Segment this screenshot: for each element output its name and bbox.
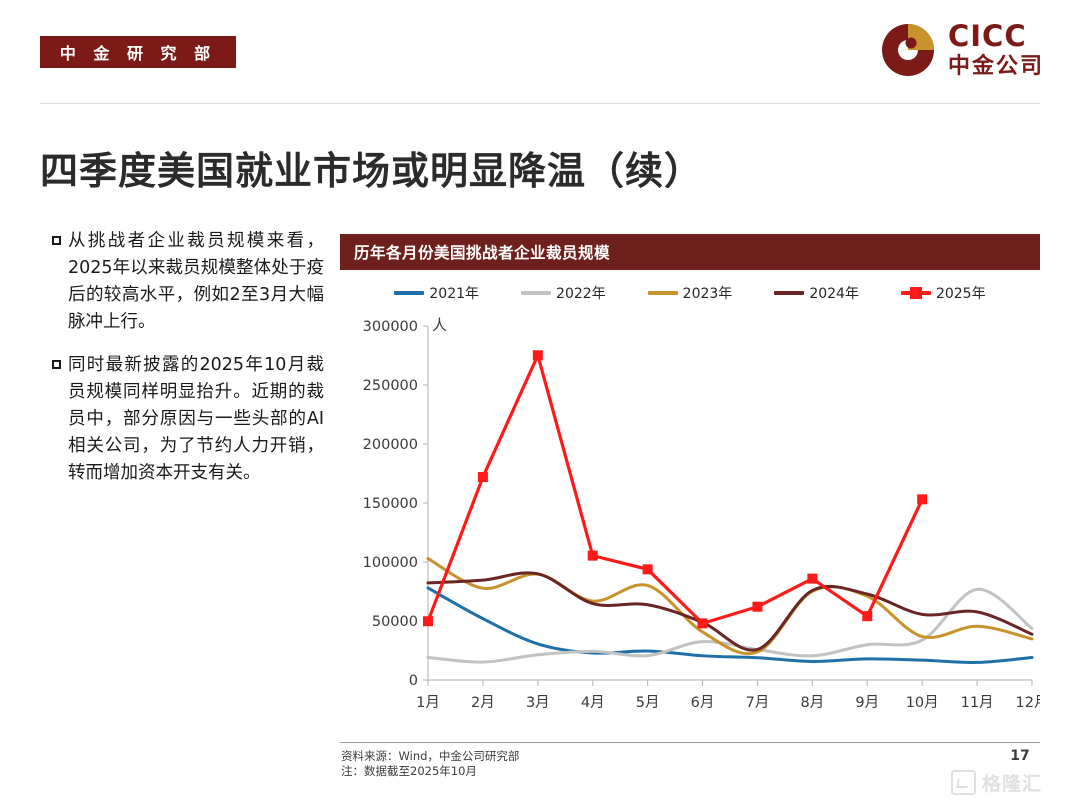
legend-item-2021年[interactable]: 2021年 — [394, 283, 479, 303]
watermark-text: 格隆汇 — [982, 769, 1042, 796]
x-tick-label: 6月 — [691, 695, 715, 711]
x-tick-label: 3月 — [526, 695, 550, 711]
legend-swatch-icon — [774, 291, 804, 295]
legend-label: 2025年 — [936, 283, 986, 303]
y-tick-label: 250000 — [363, 378, 418, 394]
x-tick-label: 10月 — [906, 695, 939, 711]
source-line-2: 注：数据截至2025年10月 — [341, 764, 519, 779]
x-tick-label: 7月 — [746, 695, 770, 711]
legend-label: 2024年 — [809, 283, 859, 303]
bullet-text: 同时最新披露的2025年10月裁员规模同样明显抬升。近期的裁员中，部分原因与一些… — [68, 352, 324, 487]
chart-panel: 历年各月份美国挑战者企业裁员规模 2021年2022年2023年2024年202… — [340, 234, 1040, 739]
cicc-logo: CICC 中金公司 — [880, 22, 1044, 78]
x-tick-label: 1月 — [416, 695, 440, 711]
logo-en-text: CICC — [948, 22, 1044, 51]
y-tick-label: 0 — [409, 673, 418, 689]
x-tick-label: 8月 — [800, 695, 824, 711]
y-tick-label: 200000 — [363, 437, 418, 453]
line-chart-svg: 0500001000001500002000002500003000001月2月… — [340, 312, 1040, 732]
series-line-2021年 — [428, 588, 1032, 663]
series-line-2025年 — [428, 355, 922, 623]
data-point-marker — [533, 350, 543, 360]
data-point-marker — [588, 551, 598, 561]
x-tick-label: 2月 — [471, 695, 495, 711]
y-tick-label: 100000 — [363, 555, 418, 571]
data-point-marker — [752, 602, 762, 612]
legend-swatch-icon — [521, 291, 551, 295]
data-point-marker — [478, 472, 488, 482]
data-point-marker — [423, 616, 433, 626]
legend-item-2022年[interactable]: 2022年 — [521, 283, 606, 303]
legend-label: 2022年 — [556, 283, 606, 303]
source-note: 资料来源：Wind，中金公司研究部 注：数据截至2025年10月 — [341, 749, 519, 779]
cicc-logo-mark — [880, 22, 936, 78]
data-point-marker — [698, 618, 708, 628]
y-tick-label: 300000 — [363, 319, 418, 335]
chart-plot-area: 0500001000001500002000002500003000001月2月… — [340, 312, 1040, 732]
x-tick-label: 11月 — [961, 695, 994, 711]
square-bullet-icon — [52, 360, 61, 369]
legend-swatch-icon — [901, 291, 931, 295]
legend-item-2024年[interactable]: 2024年 — [774, 283, 859, 303]
x-tick-label: 4月 — [581, 695, 605, 711]
brand-tag: 中 金 研 究 部 — [40, 36, 236, 68]
page-title: 四季度美国就业市场或明显降温（续） — [40, 140, 703, 195]
bullet-text: 从挑战者企业裁员规模来看，2025年以来裁员规模整体处于疫后的较高水平，例如2至… — [68, 228, 324, 336]
page-number: 17 — [1000, 748, 1040, 764]
legend-item-2025年[interactable]: 2025年 — [901, 283, 986, 303]
header-divider — [40, 103, 1040, 104]
series-line-2022年 — [428, 589, 1032, 662]
y-axis-unit-label: 人 — [432, 314, 447, 335]
legend-item-2023年[interactable]: 2023年 — [648, 283, 733, 303]
legend-swatch-icon — [394, 291, 424, 295]
list-item: 同时最新披露的2025年10月裁员规模同样明显抬升。近期的裁员中，部分原因与一些… — [52, 352, 324, 487]
legend-swatch-icon — [648, 291, 678, 295]
bullet-list: 从挑战者企业裁员规模来看，2025年以来裁员规模整体处于疫后的较高水平，例如2至… — [52, 228, 324, 503]
data-point-marker — [917, 494, 927, 504]
watermark-logo-icon — [951, 770, 976, 795]
chart-title: 历年各月份美国挑战者企业裁员规模 — [340, 234, 1040, 270]
list-item: 从挑战者企业裁员规模来看，2025年以来裁员规模整体处于疫后的较高水平，例如2至… — [52, 228, 324, 336]
x-tick-label: 5月 — [636, 695, 660, 711]
legend-label: 2021年 — [429, 283, 479, 303]
square-bullet-icon — [52, 236, 61, 245]
slide: 中 金 研 究 部 CICC 中金公司 四季度美国就业市场或明显降温（续） 从挑… — [0, 0, 1080, 810]
data-point-marker — [862, 611, 872, 621]
footer-divider — [340, 742, 1040, 743]
x-tick-label: 12月 — [1016, 695, 1040, 711]
cicc-logo-text: CICC 中金公司 — [948, 22, 1044, 78]
source-line-1: 资料来源：Wind，中金公司研究部 — [341, 749, 519, 764]
data-point-marker — [807, 574, 817, 584]
watermark: 格隆汇 — [951, 769, 1042, 796]
chart-legend: 2021年2022年2023年2024年2025年 — [340, 278, 1040, 308]
series-line-2024年 — [428, 573, 1032, 650]
legend-label: 2023年 — [683, 283, 733, 303]
data-point-marker — [643, 564, 653, 574]
x-tick-label: 9月 — [855, 695, 879, 711]
y-tick-label: 150000 — [363, 496, 418, 512]
logo-cn-text: 中金公司 — [948, 56, 1044, 78]
y-tick-label: 50000 — [372, 614, 418, 630]
